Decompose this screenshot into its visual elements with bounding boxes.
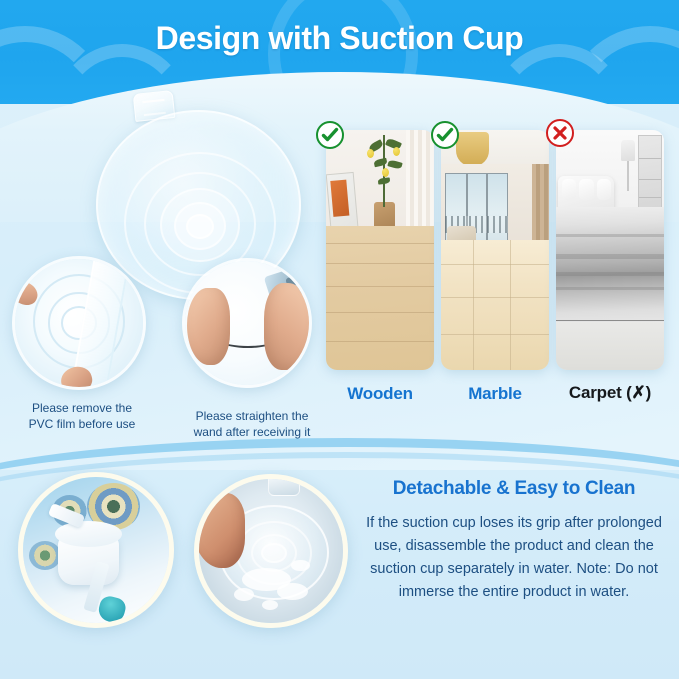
rug-edge-line — [556, 320, 664, 322]
cleaning-section-heading: Detachable & Easy to Clean — [352, 478, 676, 500]
surface-card-carpet — [556, 130, 664, 370]
caption-line-2: PVC film before use — [8, 416, 156, 432]
wooden-floor-surface — [326, 226, 434, 370]
side-curtain — [532, 164, 549, 250]
faucet — [268, 476, 300, 496]
lemon-fruit — [393, 147, 400, 156]
surface-label-marble: Marble — [441, 384, 549, 404]
surface-card-wooden — [326, 130, 434, 370]
wall-shelf-unit — [638, 135, 662, 212]
wooden-floor-room-photo — [326, 130, 434, 370]
cleaning-section-body: If the suction cup loses its grip after … — [352, 512, 676, 604]
chandelier — [456, 132, 488, 166]
caption-line-1: Please remove the — [8, 400, 156, 416]
rinsing-suction-cup-photo — [194, 474, 348, 628]
floor-lamp — [621, 140, 635, 162]
caption-line-2: wand after receiving it — [176, 424, 328, 440]
check-icon — [320, 125, 340, 145]
base-unit-top — [55, 521, 122, 547]
surface-label-wooden: Wooden — [326, 384, 434, 404]
page-title: Design with Suction Cup — [0, 20, 679, 57]
product-infographic: Design with Suction Cup Please remove th… — [0, 0, 679, 679]
window-curtain — [406, 130, 434, 236]
wand-straighten-photo — [182, 258, 312, 388]
cleaning-base-with-brush-photo — [18, 472, 174, 628]
marble-floor-room-photo — [441, 130, 549, 370]
bare-floor-strip — [556, 322, 664, 370]
cross-icon-badge-carpet — [546, 119, 574, 147]
cup-ring-5 — [186, 214, 214, 239]
marble-floor-surface — [441, 240, 549, 370]
instruction-caption-pvc: Please remove the PVC film before use — [8, 400, 156, 432]
check-icon-badge-marble — [431, 121, 459, 149]
close-icon — [550, 123, 570, 143]
pvc-film-removal-photo — [12, 256, 146, 390]
instruction-caption-wand: Please straighten the wand after receivi… — [176, 408, 328, 440]
surface-card-marble — [441, 130, 549, 370]
check-icon-badge-wooden — [316, 121, 344, 149]
water-splash — [291, 560, 310, 572]
left-hand — [187, 288, 229, 365]
water-splash — [277, 583, 309, 600]
check-icon — [435, 125, 455, 145]
hand-holding-cup — [194, 493, 245, 568]
caption-line-1: Please straighten the — [176, 408, 328, 424]
carpet-floor-room-photo — [556, 130, 664, 370]
surface-label-carpet: Carpet (✗) — [552, 383, 668, 403]
gray-carpet-rug — [556, 207, 664, 332]
